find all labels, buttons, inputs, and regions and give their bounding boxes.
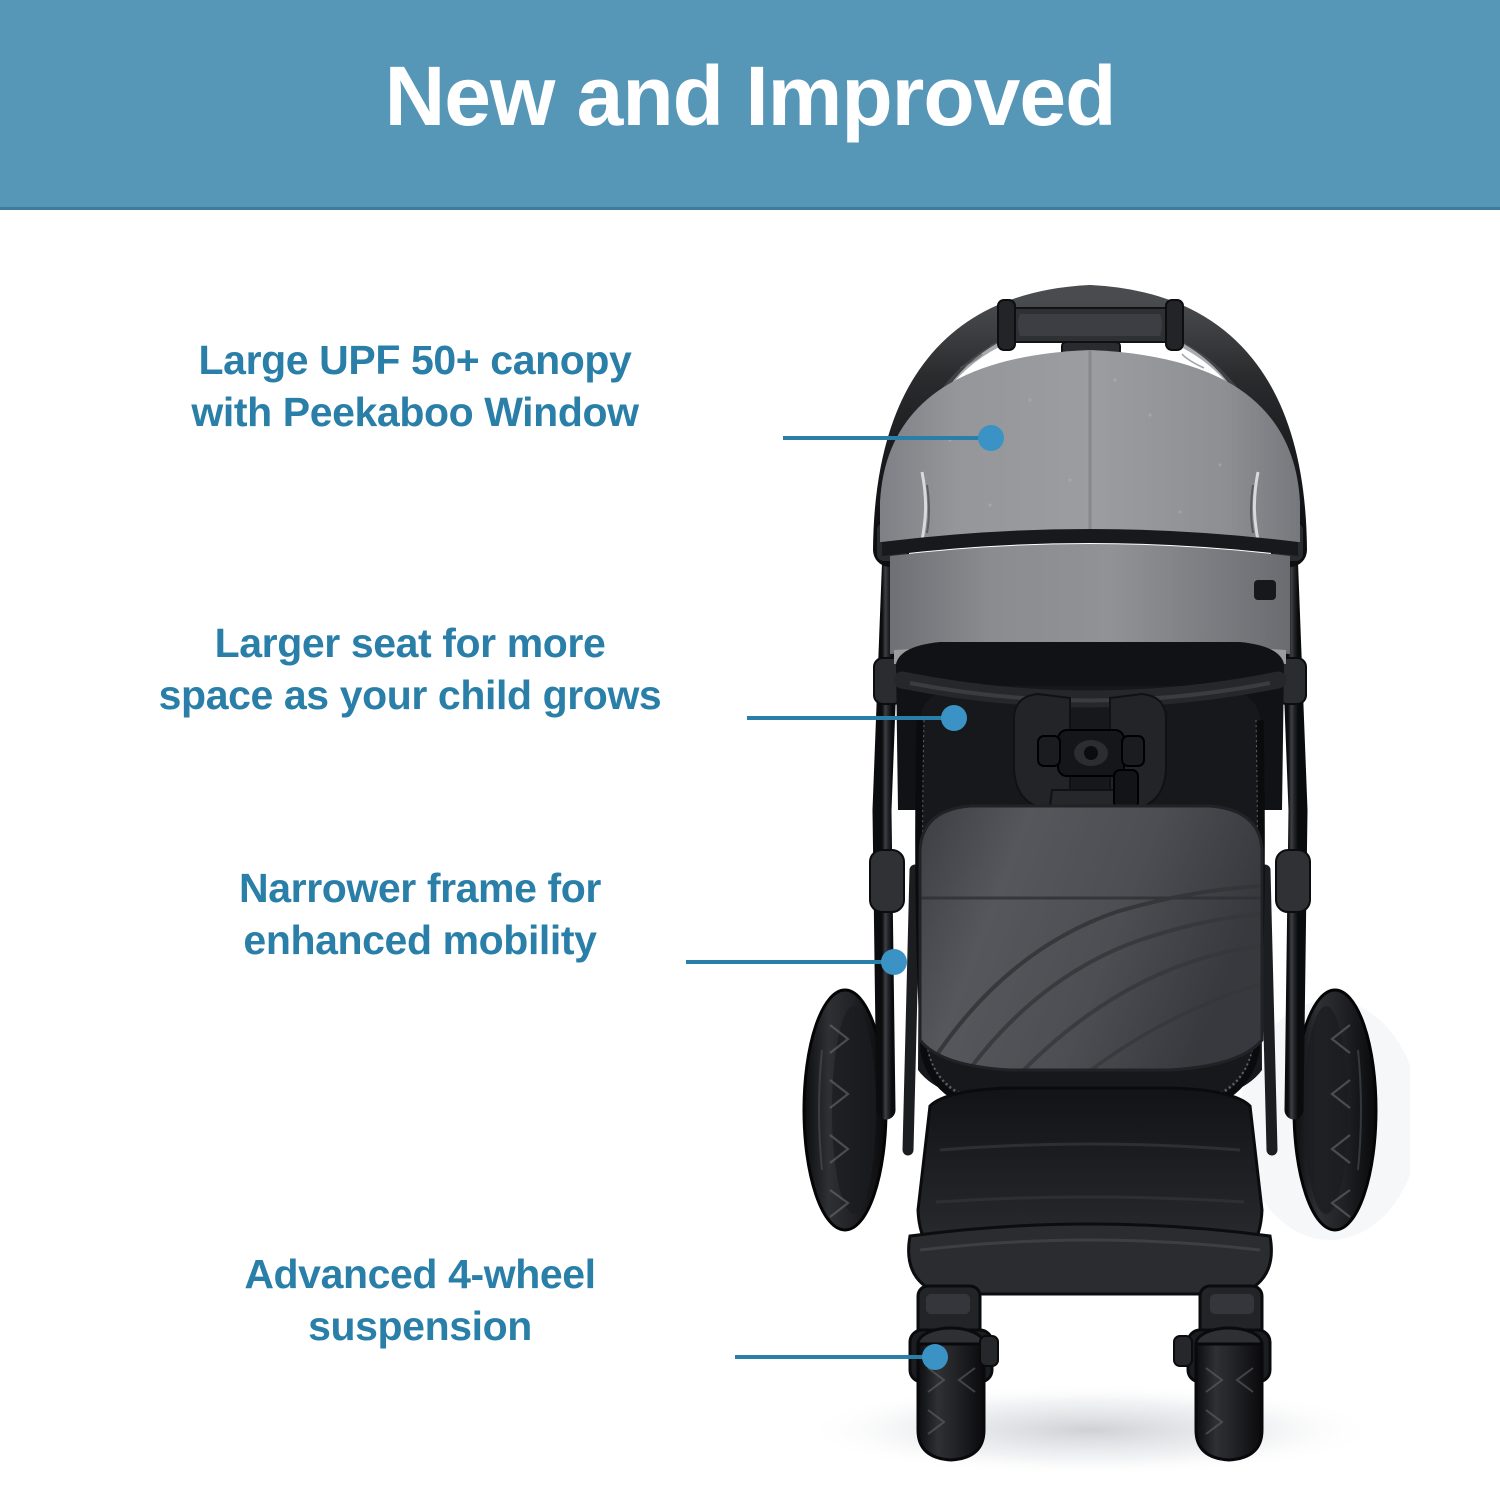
stroller-product-image xyxy=(770,250,1410,1480)
canopy-clip-right xyxy=(1254,580,1276,600)
leader-dot-suspension xyxy=(922,1344,948,1370)
canopy xyxy=(880,350,1300,664)
callout-label-canopy: Large UPF 50+ canopy with Peekaboo Windo… xyxy=(95,334,735,439)
leader-line-suspension xyxy=(735,1355,942,1359)
leader-dot-seat xyxy=(941,705,967,731)
seat-pad xyxy=(920,806,1262,1070)
infographic-canvas: New and Improved xyxy=(0,0,1500,1500)
leader-line-seat xyxy=(747,716,962,720)
callout-label-frame: Narrower frame for enhanced mobility xyxy=(150,862,690,967)
handlebar-collar-left xyxy=(998,300,1015,350)
front-wheel-left xyxy=(910,1286,998,1460)
handlebar-collar-right xyxy=(1166,300,1183,350)
leader-dot-canopy xyxy=(978,425,1004,451)
canopy-lower-panel xyxy=(890,544,1290,654)
rear-wheel-right xyxy=(1294,990,1376,1230)
rear-wheel-left xyxy=(804,990,886,1230)
basket-rim xyxy=(909,1224,1272,1294)
leader-line-frame xyxy=(686,960,902,964)
storage-basket xyxy=(909,1088,1272,1294)
leader-line-canopy xyxy=(783,436,998,440)
ground-shadow xyxy=(800,1384,1380,1476)
callout-label-suspension: Advanced 4-wheel suspension xyxy=(150,1248,690,1353)
callout-label-seat: Larger seat for more space as your child… xyxy=(80,617,740,722)
page-title: New and Improved xyxy=(0,52,1500,140)
leader-dot-frame xyxy=(881,949,907,975)
